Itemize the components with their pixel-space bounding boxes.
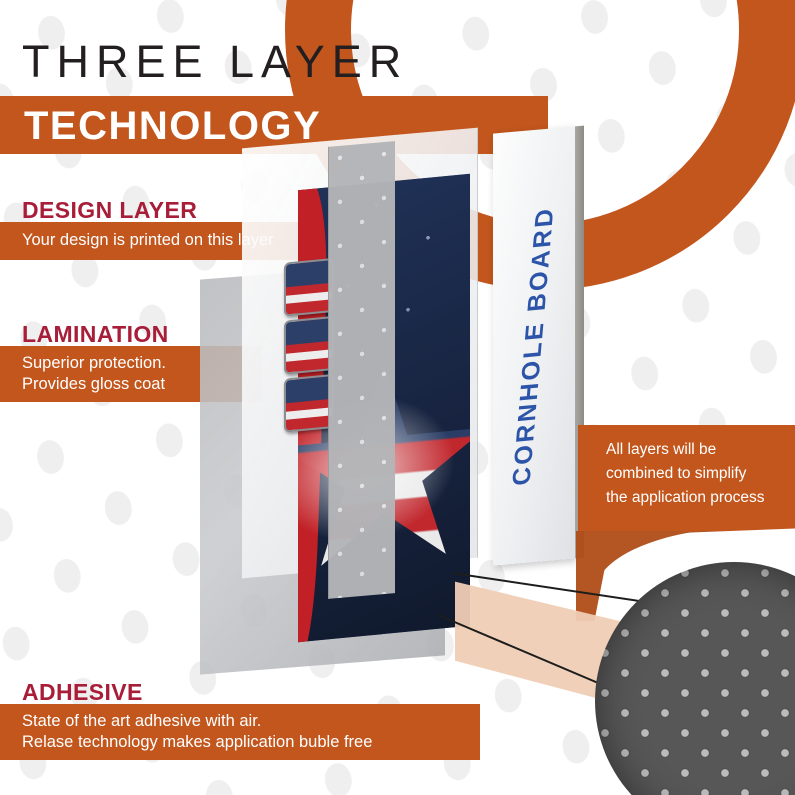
callout-text-adhesive-1: State of the art adhesive with air. (22, 711, 470, 732)
usa-letter-u (284, 258, 334, 317)
cornhole-board: CORNHOLE BOARD (493, 126, 575, 565)
callout-heading-adhesive: ADHESIVE (22, 680, 480, 704)
callout-adhesive: ADHESIVE State of the art adhesive with … (22, 680, 480, 760)
side-note-line-3: the application process (606, 486, 765, 510)
side-note-text: All layers will be combined to simplify … (606, 438, 765, 510)
usa-letter-a (284, 374, 334, 433)
usa-letter-s (284, 316, 334, 375)
page-title-line1: THREE LAYER (22, 36, 408, 88)
board-label: CORNHOLE BOARD (507, 205, 560, 486)
side-note-line-2: combined to simplify (606, 462, 765, 486)
adhesive-layer-sheet (328, 141, 395, 599)
callout-bar-adhesive: State of the art adhesive with air. Rela… (0, 704, 480, 760)
infographic-canvas: THREE LAYER TECHNOLOGY DESIGN LAYER Your… (0, 0, 795, 795)
side-note-line-1: All layers will be (606, 438, 765, 462)
callout-text-adhesive-2: Relase technology makes application bubl… (22, 732, 470, 753)
side-note-block: All layers will be combined to simplify … (578, 425, 795, 531)
